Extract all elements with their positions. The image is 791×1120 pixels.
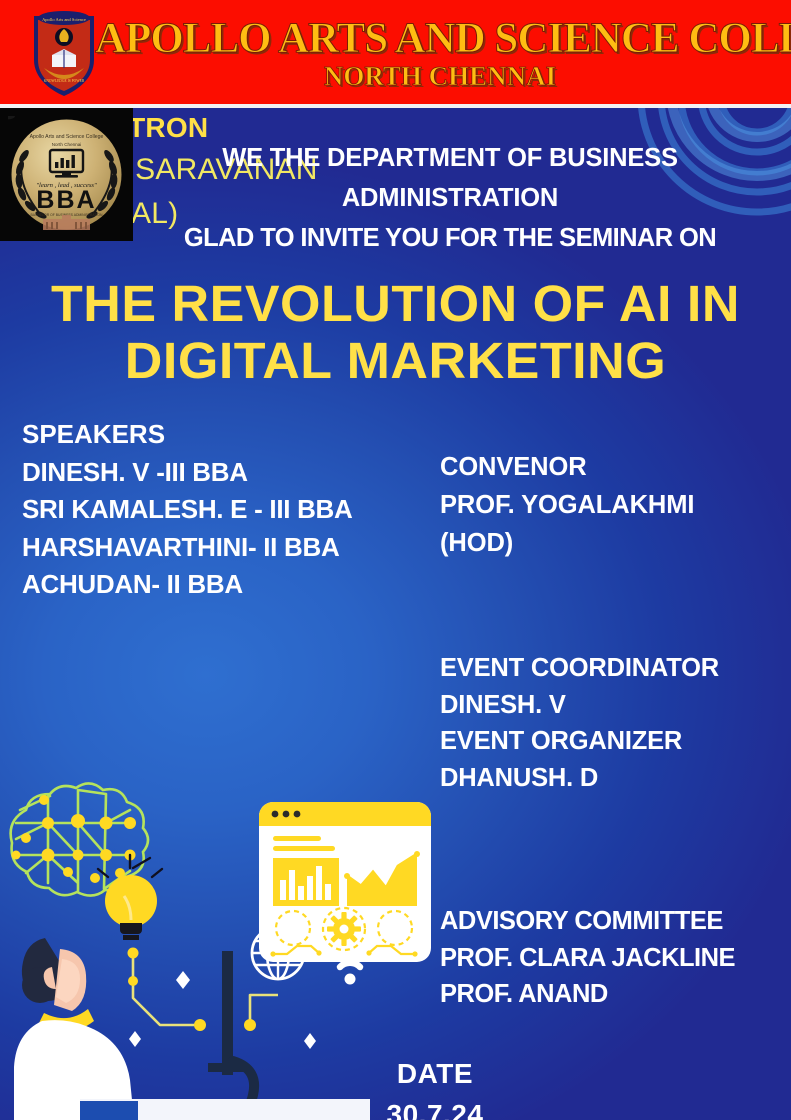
invitation-line-1: WE THE DEPARTMENT OF BUSINESS: [140, 138, 760, 178]
svg-text:North Chennai: North Chennai: [52, 142, 82, 147]
event-team-section: EVENT COORDINATOR DINESH. V EVENT ORGANI…: [440, 650, 780, 796]
convenor-heading: CONVENOR: [440, 448, 780, 486]
convenor-name: PROF. YOGALAKHMI: [440, 486, 780, 524]
advisory-committee-heading: ADVISORY COMMITTEE: [440, 903, 785, 940]
seminar-title-line-1: THE REVOLUTION OF AI IN: [12, 275, 778, 332]
advisory-committee-section: ADVISORY COMMITTEE PROF. CLARA JACKLINE …: [440, 903, 785, 1013]
seminar-title-line-2: DIGITAL MARKETING: [12, 332, 778, 389]
college-name: APOLLO ARTS AND SCIENCE COLLEGE: [95, 17, 785, 60]
svg-text:KNOWLEDGE IS POWER: KNOWLEDGE IS POWER: [44, 79, 85, 83]
bba-logo-block: Apollo Arts and Science College North Ch…: [0, 108, 133, 241]
college-crest-icon: Apollo Arts and Science KNOWLEDGE IS POW…: [30, 10, 98, 96]
svg-text:BBA: BBA: [36, 186, 96, 214]
speakers-section: SPEAKERS DINESH. V -III BBA SRI KAMALESH…: [22, 416, 442, 604]
advisory-member: PROF. ANAND: [440, 976, 785, 1013]
svg-text:Apollo Arts and Science Colleg: Apollo Arts and Science College: [30, 134, 104, 140]
event-organizer-heading: EVENT ORGANIZER: [440, 723, 780, 760]
college-header-band: Apollo Arts and Science KNOWLEDGE IS POW…: [0, 0, 791, 104]
college-location: NORTH CHENNAI: [95, 63, 785, 90]
advisory-member: PROF. CLARA JACKLINE: [440, 940, 785, 977]
poster-body: Apollo Arts and Science College North Ch…: [0, 108, 791, 1120]
convenor-designation: (HOD): [440, 524, 780, 562]
analytics-dashboard-icon: [255, 798, 435, 1048]
invitation-line-2: ADMINISTRATION: [140, 178, 760, 218]
bba-emblem-icon: Apollo Arts and Science College North Ch…: [8, 116, 125, 233]
event-coordinator-name: DINESH. V: [440, 687, 780, 724]
speaker-item: DINESH. V -III BBA: [22, 454, 442, 492]
event-coordinator-heading: EVENT COORDINATOR: [440, 650, 780, 687]
event-organizer-name: DHANUSH. D: [440, 760, 780, 797]
speakers-heading: SPEAKERS: [22, 416, 442, 454]
invitation-text: WE THE DEPARTMENT OF BUSINESS ADMINISTRA…: [140, 138, 760, 258]
speaker-item: ACHUDAN- II BBA: [22, 566, 442, 604]
invitation-line-3: GLAD TO INVITE YOU FOR THE SEMINAR ON: [140, 218, 760, 258]
lightbulb-icon: [98, 855, 162, 940]
speaker-item: SRI KAMALESH. E - III BBA: [22, 491, 442, 529]
person-at-computer-icon: [14, 938, 244, 1120]
speaker-item: HARSHAVARTHINI- II BBA: [22, 529, 442, 567]
monitor-stand: [208, 951, 254, 1117]
seminar-title: THE REVOLUTION OF AI IN DIGITAL MARKETIN…: [12, 275, 778, 389]
svg-text:Apollo Arts and Science: Apollo Arts and Science: [42, 17, 86, 22]
desk: [80, 1099, 370, 1120]
convenor-section: CONVENOR PROF. YOGALAKHMI (HOD): [440, 448, 780, 562]
seminar-poster: Apollo Arts and Science KNOWLEDGE IS POW…: [0, 0, 791, 1120]
